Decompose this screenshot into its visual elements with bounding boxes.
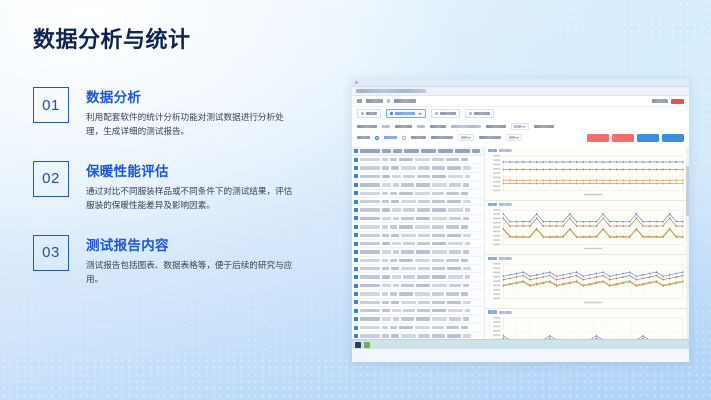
table-cell [463,334,471,337]
window-dot-icon [355,81,358,84]
table-cell [391,267,399,270]
table-cell [463,250,469,253]
table-cell [360,275,380,278]
table-cell [360,301,380,304]
line-chart [487,261,687,306]
table-row[interactable] [352,257,484,265]
table-cell [391,234,399,237]
table-row[interactable] [352,332,484,339]
table-cell [432,267,445,270]
table-cell [432,275,446,278]
table-cell [417,175,430,178]
table-cell [360,192,380,195]
table-header-row [352,147,484,156]
tab-item-active[interactable] [386,109,426,118]
list-item: 01 数据分析 利用配套软件的统计分析功能对测试数据进行分析处理，生成详细的测试… [33,86,323,139]
table-row[interactable] [352,181,484,189]
table-cell [416,317,430,320]
item-title: 保暖性能评估 [86,160,323,180]
table-cell [403,309,415,312]
table-cell [432,334,445,337]
table-cell [382,242,390,245]
select-input[interactable] [458,134,474,141]
action-button-secondary-blue[interactable] [662,134,684,142]
table-cell [401,317,414,320]
terminal-icon[interactable] [355,342,361,348]
table-cell [390,158,397,161]
row-checkbox[interactable] [354,275,358,279]
table-row[interactable] [352,265,484,273]
table-cell [461,225,468,228]
table-cell [432,317,447,320]
table-cell [447,301,461,304]
table-cell [401,217,414,220]
table-row[interactable] [352,290,484,298]
number-stepper[interactable] [511,123,529,130]
table-row[interactable] [352,164,484,172]
chevron-down-icon [467,137,471,139]
column-header[interactable] [421,149,436,152]
table-cell [382,275,390,278]
tab-item[interactable] [465,109,494,118]
table-cell [382,284,391,287]
table-cell [403,208,415,211]
row-checkbox[interactable] [354,183,358,187]
filter-label [431,136,453,139]
table-cell [382,301,389,304]
table-cell [382,175,390,178]
table-cell [415,158,430,161]
screenshot-titlebar [352,79,689,87]
table-cell [448,309,463,312]
table-cell [391,301,399,304]
table-cell [360,326,380,329]
select-input[interactable] [506,134,522,141]
row-checkbox[interactable] [354,233,358,237]
table-cell [417,242,430,245]
table-cell [382,183,391,186]
row-checkbox[interactable] [354,191,358,195]
column-header[interactable] [455,149,470,152]
filter-label [395,125,412,128]
column-header[interactable] [382,149,391,152]
table-cell [463,267,471,270]
action-button-secondary-red[interactable] [612,134,634,142]
table-cell [382,200,389,203]
table-cell [432,217,447,220]
row-checkbox[interactable] [354,158,358,162]
row-checkbox[interactable] [354,326,358,330]
table-cell [432,259,444,262]
row-checkbox[interactable] [354,216,358,220]
table-cell [447,200,461,203]
column-header[interactable] [404,149,419,152]
table-cell [432,309,446,312]
screenshot-main [352,147,689,339]
table-cell [401,301,416,304]
table-cell [418,301,430,304]
table-cell [392,242,401,245]
taskbar [352,339,689,349]
tab-item[interactable] [357,109,381,118]
table-cell [447,267,461,270]
table-cell [360,200,380,203]
table-cell [449,284,461,287]
chart-block [485,147,689,201]
row-checkbox[interactable] [354,200,358,204]
row-checkbox[interactable] [354,250,358,254]
tab-bar [352,107,689,120]
table-cell [416,217,430,220]
row-checkbox[interactable] [354,334,358,338]
table-row[interactable] [352,282,484,290]
item-body: 数据分析 利用配套软件的统计分析功能对测试数据进行分析处理，生成详细的测试报告。 [86,86,323,139]
table-cell [465,309,470,312]
tab-label [440,112,456,115]
filter-value [417,125,425,128]
table-cell [390,259,397,262]
table-cell [418,200,430,203]
table-cell [461,292,468,295]
screenshot-addressbar [352,87,689,96]
table-cell [360,309,380,312]
table-cell [360,166,380,169]
table-cell [399,225,413,228]
table-cell [448,208,463,211]
table-cell [392,208,401,211]
tab-icon [361,112,364,115]
table-cell [360,208,380,211]
table-cell [360,217,380,220]
table-cell [463,317,469,320]
table-cell [432,208,446,211]
table-cell [432,242,446,245]
table-cell [382,225,388,228]
tab-label [474,112,490,115]
table-cell [449,183,461,186]
action-button-primary-red[interactable] [587,134,609,142]
table-cell [463,200,471,203]
table-cell [382,326,388,329]
filter-toolbar [352,120,689,147]
table-cell [382,166,389,169]
tab-label [366,112,377,115]
table-cell [417,208,430,211]
select-value [461,136,467,139]
table-cell [463,183,469,186]
chart-subtitle-text [499,203,512,206]
table-cell [447,334,461,337]
table-row[interactable] [352,198,484,206]
table-cell [392,309,401,312]
chevron-down-icon [515,137,519,139]
table-cell [447,166,461,169]
table-row[interactable] [352,273,484,281]
table-cell [360,259,380,262]
chart-list [485,147,689,339]
item-number: 02 [42,170,60,187]
chart-subtitle-text [499,257,512,260]
line-chart [487,315,687,339]
table-cell [360,158,380,161]
column-header[interactable] [438,149,453,152]
list-item: 03 测试报告内容 测试报告包括图表、数据表格等，便于后续的研究与应用。 [33,234,323,287]
table-row[interactable] [352,206,484,214]
row-checkbox[interactable] [354,267,358,271]
table-body [352,156,484,339]
table-cell [432,250,447,253]
table-cell [418,267,430,270]
table-cell [360,234,380,237]
table-cell [432,284,447,287]
table-cell [393,217,399,220]
slide-root: 数据分析与统计 01 数据分析 利用配套软件的统计分析功能对测试数据进行分析处理… [0,0,711,400]
menu-icon[interactable] [357,99,362,103]
chart-block [485,201,689,255]
table-cell [360,175,380,178]
table-cell [465,175,470,178]
scrollbar-thumb[interactable] [686,166,689,216]
data-table [352,147,485,339]
table-row[interactable] [352,324,484,332]
filter-value [382,125,390,128]
table-cell [463,301,471,304]
table-cell [382,192,388,195]
row-checkbox[interactable] [354,208,358,212]
radio-selected-icon[interactable] [375,136,379,140]
column-header[interactable] [393,149,402,152]
select-all-checkbox[interactable] [354,149,358,153]
table-cell [463,217,469,220]
breadcrumb-actions [652,99,684,104]
row-checkbox[interactable] [354,258,358,262]
table-cell [391,166,399,169]
table-cell [382,158,388,161]
table-cell [415,225,430,228]
table-cell [448,175,463,178]
chart-panel [485,147,689,339]
tab-icon [435,112,438,115]
item-number-box: 03 [33,235,69,271]
table-cell [447,234,461,237]
line-chart [487,207,687,252]
page-title: 数据分析与统计 [33,22,191,54]
row-checkbox[interactable] [354,242,358,246]
table-cell [360,317,380,320]
table-cell [399,192,413,195]
row-checkbox[interactable] [354,317,358,321]
table-row[interactable] [352,156,484,164]
table-cell [390,192,397,195]
table-cell [463,166,471,169]
table-cell [403,175,415,178]
table-cell [432,183,447,186]
table-cell [432,200,445,203]
table-row[interactable] [352,248,484,256]
table-cell [390,326,397,329]
table-cell [393,317,399,320]
table-cell [446,158,459,161]
table-cell [448,242,463,245]
table-cell [446,225,459,228]
table-cell [465,242,470,245]
column-header[interactable] [360,149,380,152]
row-checkbox[interactable] [354,300,358,304]
table-cell [360,284,380,287]
table-cell [399,259,413,262]
table-cell [391,334,399,337]
table-cell [432,326,444,329]
table-cell [382,234,389,237]
filter-label [357,125,377,128]
table-cell [465,208,470,211]
table-cell [390,225,397,228]
app-icon[interactable] [364,342,370,348]
table-cell [432,234,445,237]
vertical-scrollbar[interactable] [686,147,689,339]
table-cell [393,284,399,287]
chevron-down-icon [418,113,422,115]
filter-row [357,133,684,142]
software-screenshot [352,79,689,362]
table-cell [393,183,399,186]
select-value [509,136,515,139]
chart-block [485,255,689,309]
table-cell [360,267,380,270]
table-row[interactable] [352,223,484,231]
table-cell [399,326,413,329]
tab-icon [390,112,393,115]
item-number-box: 01 [33,87,69,123]
chart-title-text [488,257,497,261]
table-cell [415,292,430,295]
table-cell [416,250,430,253]
table-cell [461,259,468,262]
table-cell [401,284,414,287]
row-checkbox[interactable] [354,292,358,296]
list-item: 02 保暖性能评估 通过对比不同服装样品或不同条件下的测试结果，评估服装的保暖性… [33,160,323,213]
table-row[interactable] [352,307,484,315]
table-cell [432,158,444,161]
table-row[interactable] [352,240,484,248]
table-cell [399,158,413,161]
tab-item[interactable] [431,109,460,118]
table-cell [391,200,399,203]
breadcrumb-item[interactable] [394,99,416,103]
chevron-right-icon [387,99,390,103]
chart-title-text [488,203,497,207]
filter-row [357,122,684,131]
table-cell [392,275,401,278]
radio-icon[interactable] [402,136,406,140]
table-row[interactable] [352,232,484,240]
table-cell [382,208,390,211]
table-cell [401,200,416,203]
table-cell [465,275,470,278]
item-description: 测试报告包括图表、数据表格等，便于后续的研究与应用。 [86,259,300,287]
table-cell [418,234,430,237]
action-button-primary-blue[interactable] [637,134,659,142]
action-button-group [587,134,684,142]
table-cell [432,301,445,304]
table-cell [382,334,389,337]
numbered-item-list: 01 数据分析 利用配套软件的统计分析功能对测试数据进行分析处理，生成详细的测试… [33,86,323,308]
table-cell [401,166,416,169]
user-label [652,99,668,103]
table-row[interactable] [352,173,484,181]
row-checkbox[interactable] [354,174,358,178]
item-title: 测试报告内容 [86,234,323,254]
table-cell [416,284,430,287]
chart-subtitle-text [499,311,512,314]
table-cell [432,192,444,195]
table-cell [417,275,430,278]
breadcrumb-item[interactable] [366,99,383,103]
table-cell [401,183,414,186]
table-cell [401,334,416,337]
filter-label [357,136,370,139]
table-cell [432,175,446,178]
table-cell [403,242,415,245]
table-cell [401,250,414,253]
table-cell [418,334,430,337]
table-cell [382,259,388,262]
table-row[interactable] [352,215,484,223]
radio-label [411,136,426,139]
table-cell [432,166,445,169]
item-body: 保暖性能评估 通过对比不同服装样品或不同条件下的测试结果，评估服装的保暖性能差异… [86,160,323,213]
table-cell [448,275,463,278]
filter-label [534,125,554,128]
logout-button[interactable] [671,99,684,104]
table-row[interactable] [352,190,484,198]
table-cell [382,292,388,295]
tab-icon [469,112,472,115]
table-cell [418,166,430,169]
row-checkbox[interactable] [354,166,358,170]
table-cell [360,292,380,295]
table-cell [401,234,416,237]
table-cell [446,192,459,195]
table-cell [416,183,430,186]
table-cell [432,292,444,295]
table-cell [382,267,389,270]
table-row[interactable] [352,299,484,307]
row-checkbox[interactable] [354,284,358,288]
column-header[interactable] [472,149,480,152]
table-cell [360,250,380,253]
table-cell [446,292,459,295]
table-cell [415,259,430,262]
row-checkbox[interactable] [354,225,358,229]
table-cell [446,259,459,262]
table-row[interactable] [352,315,484,323]
chevron-down-icon [522,126,526,128]
row-checkbox[interactable] [354,309,358,313]
item-description: 通过对比不同服装样品或不同条件下的测试结果，评估服装的保暖性能差异及影响因素。 [86,185,300,213]
chart-subtitle-text [499,149,512,152]
table-cell [449,317,461,320]
filter-label [479,136,501,139]
tab-label [395,112,415,115]
item-number: 01 [42,97,60,114]
table-cell [449,217,461,220]
table-cell [415,192,430,195]
table-cell [401,267,416,270]
filter-label [486,125,506,128]
table-cell [461,192,468,195]
item-number-box: 02 [33,161,69,197]
